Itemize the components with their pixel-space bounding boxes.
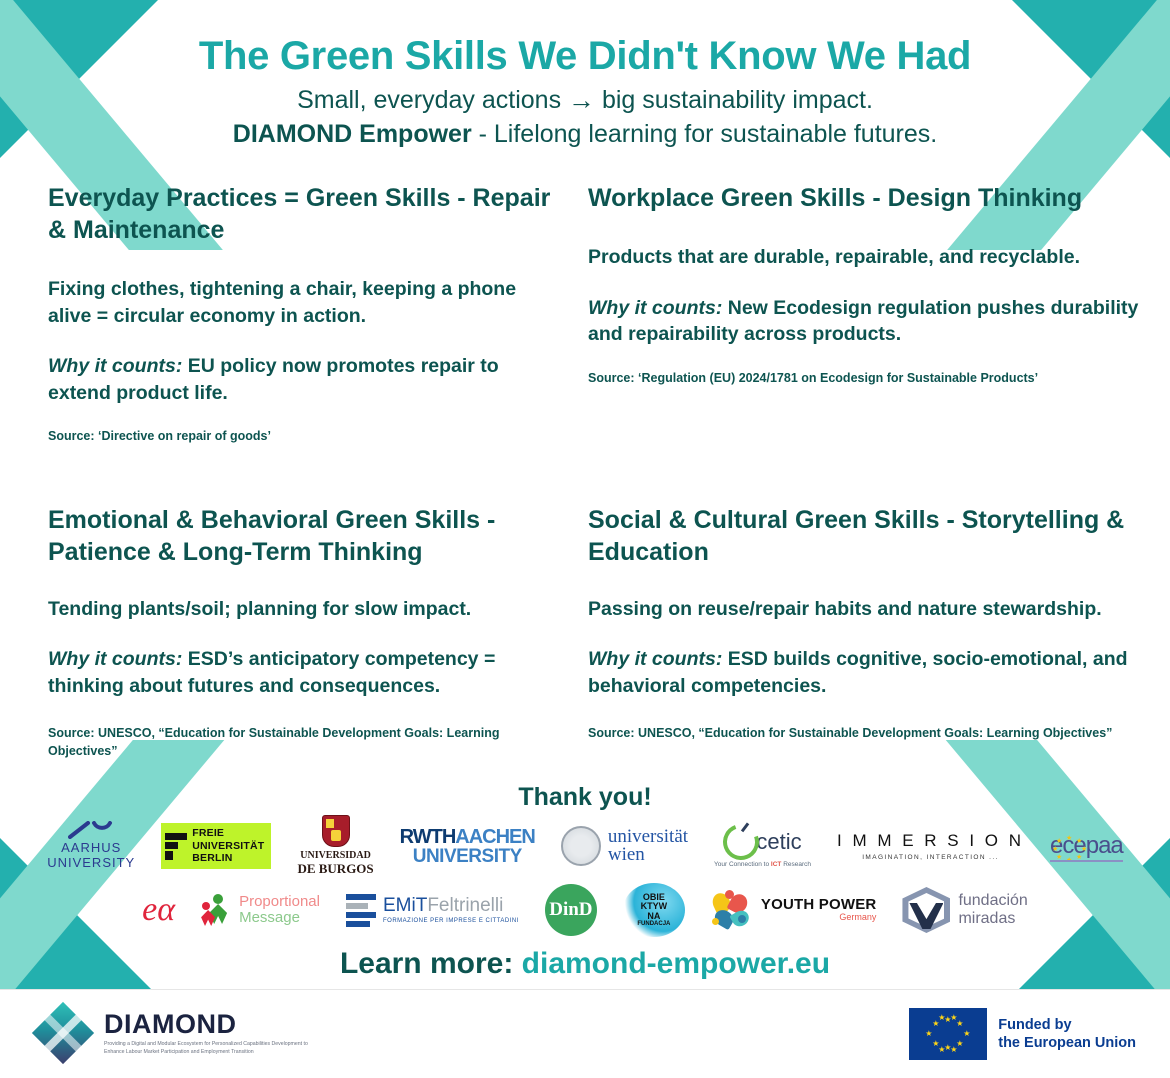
card-body: Fixing clothes, tightening a chair, keep…	[48, 276, 558, 329]
logo-immersion: I M M E R S I O N IMAGINATION, INTERACTI…	[837, 831, 1024, 861]
card-why: Why it counts: New Ecodesign regulation …	[588, 295, 1146, 348]
freie-line-2: UNIVERSITÄT	[192, 840, 264, 852]
page-title: The Green Skills We Didn't Know We Had	[0, 0, 1170, 79]
logo-proportional-message: Proportional Message	[201, 892, 320, 928]
logo-cetic: cetic Your Connection to ICT Research	[714, 824, 811, 868]
cetic-text: cetic	[756, 829, 801, 855]
youth-power-line-1: YOUTH POWER	[761, 897, 877, 914]
cetic-wordmark: cetic	[723, 824, 801, 860]
eu-line-2: the European Union	[998, 1034, 1136, 1052]
card-source: Source: UNESCO, “Education for Sustainab…	[48, 725, 558, 760]
card-everyday-practices: Everyday Practices = Green Skills - Repa…	[0, 182, 578, 446]
why-label: Why it counts:	[48, 355, 182, 377]
freie-line-1: FREIE	[192, 827, 264, 839]
emit-tagline: FORMAZIONE PER IMPRESE E CITTADINI	[383, 918, 519, 924]
card-why: Why it counts: ESD’s anticipatory compet…	[48, 646, 558, 699]
eu-funding-text: Funded by the European Union	[998, 1016, 1136, 1052]
card-social-cultural: Social & Cultural Green Skills - Storyte…	[578, 504, 1170, 761]
learn-more: Learn more: diamond-empower.eu	[0, 947, 1170, 981]
obie-line-4: FUNDACJA	[637, 921, 670, 927]
rwth-text-a: RWTH	[400, 826, 456, 848]
diamond-gem-icon	[34, 1004, 92, 1062]
logo-row-2: eα Proportional Message EMiTFeltrinelli …	[0, 879, 1170, 941]
proportional-line-2: Message	[239, 910, 320, 927]
logo-youth-power-germany: YOUTH POWER Germany	[711, 890, 877, 930]
subtitle-line-1: Small, everyday actions → big sustainabi…	[0, 85, 1170, 116]
miradas-line-1: fundación	[958, 892, 1027, 910]
burgos-crest-icon	[322, 815, 350, 847]
card-body: Passing on reuse/repair habits and natur…	[588, 596, 1146, 623]
cetic-tagline-c: Research	[781, 861, 811, 868]
card-emotional-behavioral: Emotional & Behavioral Green Skills - Pa…	[0, 504, 578, 761]
project-website-link[interactable]: diamond-empower.eu	[522, 947, 830, 980]
logo-rwth-aachen-university: RWTHAACHEN UNIVERSITY	[400, 827, 535, 866]
why-label: Why it counts:	[588, 297, 722, 319]
miradas-text: fundación miradas	[958, 892, 1027, 929]
wien-text: universität wien	[608, 828, 688, 864]
card-title: Workplace Green Skills - Design Thinking	[588, 182, 1146, 214]
card-title: Social & Cultural Green Skills - Storyte…	[588, 504, 1146, 568]
miradas-line-2: miradas	[958, 910, 1027, 928]
proportional-line-1: Proportional	[239, 894, 320, 911]
youth-power-burst-icon	[711, 890, 755, 930]
cetic-tagline: Your Connection to ICT Research	[714, 861, 811, 868]
obie-text: OBIE KTYW NA FUNDACJA	[623, 883, 685, 937]
card-source: Source: ‘Regulation (EU) 2024/1781 on Ec…	[588, 370, 1146, 388]
diamond-text: DIAMOND Providing a Digital and Modular …	[104, 1010, 314, 1057]
card-source: Source: ‘Directive on repair of goods’	[48, 428, 558, 446]
subtitle-line-2: DIAMOND Empower - Lifelong learning for …	[0, 120, 1170, 149]
why-label: Why it counts:	[48, 648, 182, 670]
emit-text: EMiTFeltrinelli FORMAZIONE PER IMPRESE E…	[383, 896, 519, 924]
logo-row-1: AARHUS UNIVERSITY FREIE UNIVERSITÄT BERL…	[0, 815, 1170, 877]
cetic-tagline-a: Your Connection to	[714, 861, 771, 868]
poster-header: The Green Skills We Didn't Know We Had S…	[0, 0, 1170, 160]
burgos-line-2: DE BURGOS	[297, 861, 373, 876]
subtitle-text-a: Small, everyday actions	[297, 86, 568, 114]
diamond-project-tagline: Providing a Digital and Modular Ecosyste…	[104, 1041, 314, 1057]
logo-ea: eα	[142, 891, 175, 929]
emit-text-b: Feltrinelli	[427, 895, 503, 916]
aarhus-mark-icon	[68, 821, 114, 839]
eu-funding-badge: ★★ ★★ ★★ ★★ ★★ ★★ Funded by the European…	[909, 1008, 1136, 1060]
emit-bars-icon	[346, 894, 376, 927]
cetic-tagline-b: ICT	[771, 861, 781, 868]
card-source: Source: UNESCO, “Education for Sustainab…	[588, 725, 1146, 743]
learn-more-label: Learn more:	[340, 947, 522, 980]
partner-logos: AARHUS UNIVERSITY FREIE UNIVERSITÄT BERL…	[0, 815, 1170, 941]
ecepaa-underline	[1050, 860, 1123, 862]
logo-freie-universitaet-berlin: FREIE UNIVERSITÄT BERLIN	[161, 823, 271, 868]
proportional-text: Proportional Message	[239, 894, 320, 927]
logo-aarhus-university: AARHUS UNIVERSITY	[47, 821, 135, 871]
content-row-1: Everyday Practices = Green Skills - Repa…	[0, 182, 1170, 446]
freie-mark-icon	[165, 833, 187, 860]
infographic-poster: The Green Skills We Didn't Know We Had S…	[0, 0, 1170, 1078]
rwth-line-2: UNIVERSITY	[413, 847, 522, 866]
burgos-text: UNIVERSIDAD DE BURGOS	[297, 850, 373, 876]
logo-obiektywna-fundacja: OBIE KTYW NA FUNDACJA	[623, 883, 685, 937]
diamond-project-name: DIAMOND	[104, 1010, 314, 1038]
aarhus-line-1: AARHUS	[61, 841, 121, 856]
card-workplace-green-skills: Workplace Green Skills - Design Thinking…	[578, 182, 1170, 446]
card-why: Why it counts: ESD builds cognitive, soc…	[588, 646, 1146, 699]
card-body: Products that are durable, repairable, a…	[588, 244, 1146, 271]
rwth-line-1: RWTHAACHEN	[400, 827, 535, 847]
logo-fundacion-miradas: fundación miradas	[902, 887, 1027, 933]
freie-line-3: BERLIN	[192, 852, 264, 864]
poster-footer: DIAMOND Providing a Digital and Modular …	[0, 989, 1170, 1078]
wien-line-2: wien	[608, 846, 688, 864]
card-title: Everyday Practices = Green Skills - Repa…	[48, 182, 558, 246]
youth-power-text: YOUTH POWER Germany	[761, 897, 877, 923]
why-label: Why it counts:	[588, 648, 722, 670]
subtitle-text-b: big sustainability impact.	[595, 86, 873, 114]
eu-line-1: Funded by	[998, 1016, 1136, 1034]
brand-tagline: - Lifelong learning for sustainable futu…	[472, 120, 938, 148]
diamond-logo: DIAMOND Providing a Digital and Modular …	[34, 1004, 314, 1062]
emit-line-1: EMiTFeltrinelli	[383, 896, 519, 915]
immersion-tagline: IMAGINATION, INTERACTION ...	[862, 854, 999, 861]
content-row-2: Emotional & Behavioral Green Skills - Pa…	[0, 504, 1170, 761]
arrow-icon: →	[568, 85, 595, 115]
logo-dind: DinD	[545, 884, 597, 936]
logo-universidad-de-burgos: UNIVERSIDAD DE BURGOS	[297, 815, 373, 876]
content-grid: Everyday Practices = Green Skills - Repa…	[0, 182, 1170, 760]
logo-universitaet-wien: universität wien	[561, 826, 688, 866]
freie-text: FREIE UNIVERSITÄT BERLIN	[192, 827, 264, 864]
brand-name: DIAMOND Empower	[233, 120, 472, 148]
card-why: Why it counts: EU policy now promotes re…	[48, 353, 558, 406]
emit-text-a: EMiT	[383, 895, 427, 916]
obie-line-3: NA	[647, 912, 660, 921]
immersion-wordmark: I M M E R S I O N	[837, 831, 1024, 851]
proportional-figures-icon	[201, 892, 233, 928]
wien-seal-icon	[561, 826, 601, 866]
eu-flag-icon: ★★ ★★ ★★ ★★ ★★ ★★	[909, 1008, 987, 1060]
cetic-ring-icon	[717, 818, 765, 866]
card-title: Emotional & Behavioral Green Skills - Pa…	[48, 504, 558, 568]
logo-emit-feltrinelli: EMiTFeltrinelli FORMAZIONE PER IMPRESE E…	[346, 894, 519, 927]
card-body: Tending plants/soil; planning for slow i…	[48, 596, 558, 623]
aarhus-line-2: UNIVERSITY	[47, 856, 135, 871]
rwth-text-b: AACHEN	[455, 826, 535, 848]
logo-ecepaa: ★★ ★★ ★★ ★★ ecepaa	[1050, 832, 1123, 860]
thank-you-text: Thank you!	[0, 783, 1170, 812]
miradas-hexagon-icon	[902, 887, 950, 933]
youth-power-line-2: Germany	[761, 913, 877, 923]
